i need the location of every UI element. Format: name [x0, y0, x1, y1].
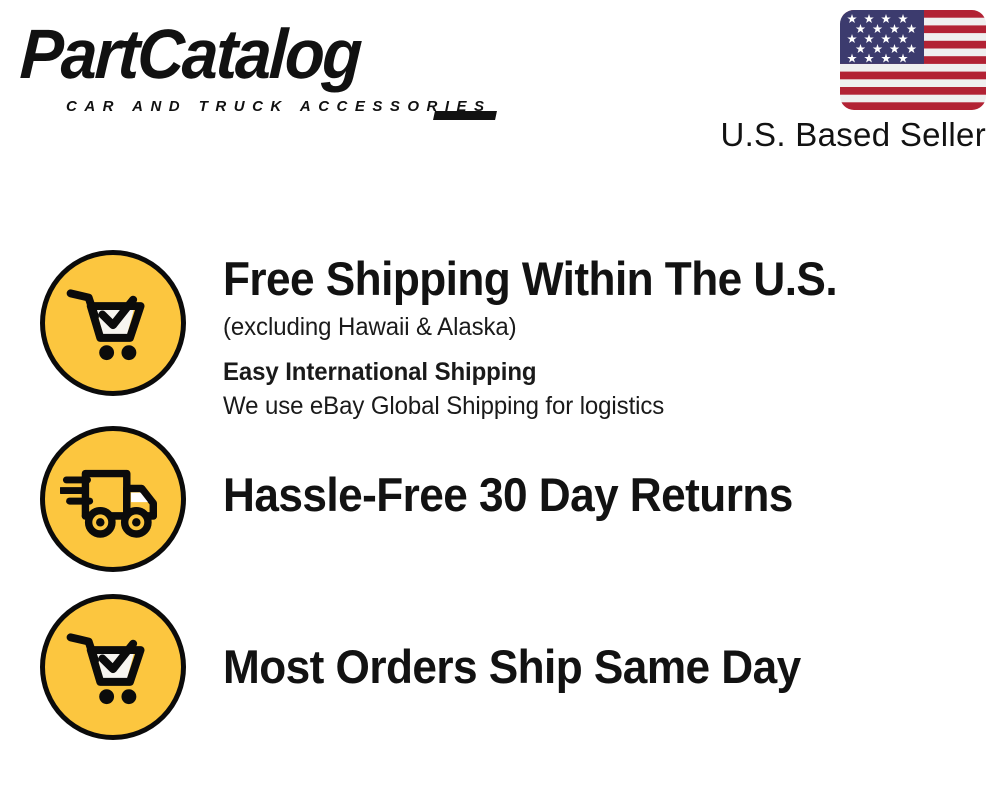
- us-based-seller-label: U.S. Based Seller: [566, 116, 986, 154]
- shopping-cart-check-icon: [40, 594, 186, 740]
- benefit-text-block: Hassle-Free 30 Day Returns: [186, 424, 980, 522]
- benefit-row: Hassle-Free 30 Day Returns: [40, 424, 980, 574]
- benefit-title: Most Orders Ship Same Day: [223, 640, 935, 694]
- benefit-subtitle: Easy International Shipping: [223, 355, 950, 389]
- benefit-row: Free Shipping Within The U.S. (excluding…: [40, 250, 980, 420]
- brand-wordmark: PartCatalog: [18, 18, 468, 90]
- shopping-cart-check-icon: [40, 250, 186, 396]
- brand-tagline: CAR AND TRUCK ACCESSORIES: [66, 98, 492, 115]
- benefit-title: Hassle-Free 30 Day Returns: [223, 468, 935, 522]
- benefit-row: Most Orders Ship Same Day: [40, 594, 980, 744]
- benefit-text-block: Most Orders Ship Same Day: [186, 594, 980, 694]
- delivery-truck-icon: [40, 426, 186, 572]
- logo-swash-decoration: [433, 111, 497, 120]
- banner-header: PartCatalog CAR AND TRUCK ACCESSORIES: [0, 0, 1000, 190]
- us-flag-icon: [840, 10, 986, 110]
- benefit-subtitle: We use eBay Global Shipping for logistic…: [223, 389, 950, 423]
- benefit-text-block: Free Shipping Within The U.S. (excluding…: [186, 250, 980, 423]
- brand-logo: PartCatalog CAR AND TRUCK ACCESSORIES: [22, 18, 502, 118]
- benefit-subtitle: (excluding Hawaii & Alaska): [223, 310, 950, 344]
- benefit-title: Free Shipping Within The U.S.: [223, 252, 935, 306]
